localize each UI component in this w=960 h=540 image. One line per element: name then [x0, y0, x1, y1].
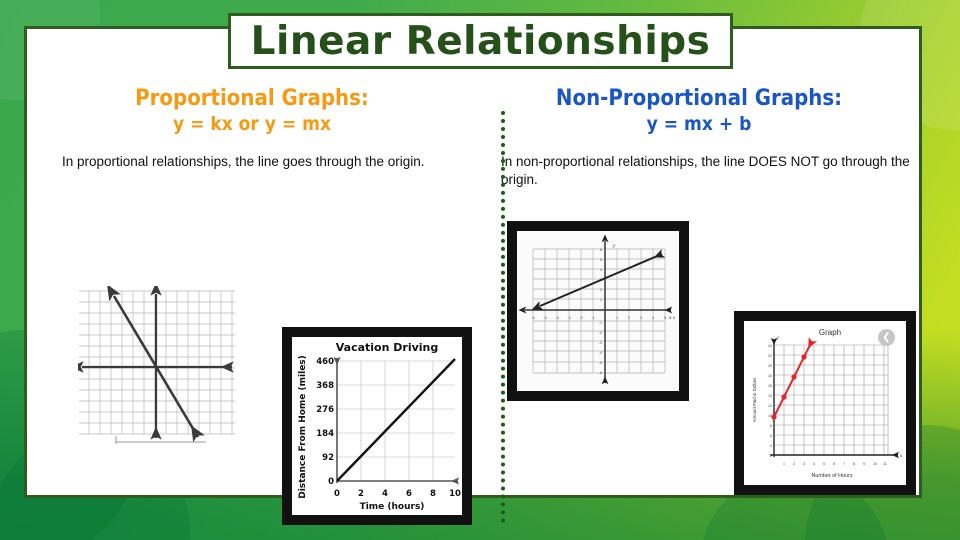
- svg-text:-1: -1: [599, 321, 602, 325]
- svg-text:2: 2: [358, 489, 364, 499]
- amount-paid-y-axis-label: Amount Paid in Dollars: [752, 377, 757, 422]
- svg-text:10: 10: [873, 462, 877, 466]
- svg-text:-5: -5: [599, 361, 602, 365]
- vacation-y-axis-label: Distance From Home (miles): [298, 355, 308, 499]
- svg-text:2: 2: [770, 454, 772, 458]
- svg-text:12: 12: [768, 404, 772, 408]
- svg-text:6: 6: [833, 462, 835, 466]
- svg-text:22: 22: [768, 354, 772, 358]
- svg-text:460: 460: [316, 357, 334, 367]
- right-column: Non-Proportional Graphs: y = mx + b In n…: [479, 61, 919, 501]
- svg-text:-4: -4: [599, 351, 602, 355]
- svg-text:-3: -3: [599, 341, 602, 345]
- svg-text:3: 3: [640, 316, 642, 320]
- amount-paid-x-axis-label: Number of Hours: [811, 473, 852, 479]
- non-proportional-grid-graph: y x -6-5-4 -3-2-1 123 456 654 321 -1-2-3…: [507, 221, 689, 401]
- non-proportional-heading-line1: Non-Proportional Graphs:: [479, 87, 919, 112]
- svg-text:9: 9: [863, 462, 865, 466]
- slide-content-card: Proportional Graphs: y = kx or y = mx In…: [24, 26, 922, 498]
- vacation-x-axis-label: Time (hours): [360, 502, 425, 512]
- svg-text:x: x: [899, 454, 903, 459]
- non-proportional-heading: Non-Proportional Graphs: y = mx + b: [479, 87, 919, 135]
- svg-text:-6: -6: [599, 371, 602, 375]
- non-proportional-body-text: In non-proportional relationships, the l…: [501, 153, 913, 189]
- left-column: Proportional Graphs: y = kx or y = mx In…: [27, 61, 477, 501]
- svg-text:1: 1: [616, 316, 618, 320]
- svg-text:y: y: [776, 336, 780, 341]
- svg-text:8: 8: [430, 489, 436, 499]
- vacation-driving-chart: Vacation Driving Distance From Home (mil…: [282, 327, 472, 525]
- svg-text:10: 10: [768, 414, 772, 418]
- svg-text:3: 3: [803, 462, 805, 466]
- svg-text:4: 4: [600, 268, 602, 272]
- vacation-chart-title: Vacation Driving: [336, 341, 439, 354]
- svg-text:8: 8: [853, 462, 855, 466]
- svg-text:-2: -2: [599, 331, 602, 335]
- svg-text:4: 4: [770, 444, 772, 448]
- slide-title-box: Linear Relationships: [228, 13, 733, 69]
- svg-text:368: 368: [316, 381, 334, 391]
- proportional-grid-graph: [78, 286, 236, 446]
- svg-text:14: 14: [768, 394, 772, 398]
- svg-text:4: 4: [813, 462, 815, 466]
- svg-text:11: 11: [883, 462, 887, 466]
- svg-text:1: 1: [783, 462, 785, 466]
- svg-text:4: 4: [652, 316, 654, 320]
- svg-text:-4: -4: [555, 316, 558, 320]
- svg-text:18: 18: [768, 374, 772, 378]
- svg-text:8: 8: [770, 424, 772, 428]
- svg-text:5: 5: [600, 258, 602, 262]
- svg-text:20: 20: [768, 364, 772, 368]
- svg-text:92: 92: [322, 453, 334, 463]
- svg-text:7: 7: [843, 462, 845, 466]
- svg-text:0: 0: [334, 489, 340, 499]
- svg-text:0: 0: [328, 477, 334, 487]
- svg-text:6: 6: [406, 489, 412, 499]
- svg-text:-3: -3: [567, 316, 570, 320]
- page-title: Linear Relationships: [251, 22, 711, 61]
- proportional-heading: Proportional Graphs: y = kx or y = mx: [27, 87, 477, 135]
- svg-text:2: 2: [793, 462, 795, 466]
- svg-text:-5: -5: [543, 316, 546, 320]
- svg-text:10: 10: [449, 489, 461, 499]
- svg-text:5: 5: [823, 462, 825, 466]
- column-divider: [501, 111, 505, 523]
- non-proportional-heading-line2: y = mx + b: [479, 114, 919, 135]
- svg-text:-1: -1: [591, 316, 594, 320]
- svg-text:276: 276: [316, 405, 334, 415]
- svg-text:-2: -2: [579, 316, 582, 320]
- amount-paid-chart-title: Graph: [819, 328, 841, 337]
- proportional-body-text: In proportional relationships, the line …: [62, 153, 442, 171]
- svg-text:16: 16: [768, 384, 772, 388]
- svg-text:6: 6: [673, 316, 675, 320]
- chevron-left-icon[interactable]: ❮: [878, 329, 895, 346]
- svg-text:5: 5: [664, 316, 666, 320]
- x-axis-label: x: [668, 315, 672, 321]
- svg-text:6: 6: [600, 248, 602, 252]
- svg-text:184: 184: [316, 429, 334, 439]
- proportional-heading-line2: y = kx or y = mx: [27, 114, 477, 135]
- y-axis-label: y: [612, 243, 616, 249]
- svg-text:1: 1: [600, 298, 602, 302]
- amount-paid-graph: Graph: [734, 311, 916, 495]
- proportional-heading-line1: Proportional Graphs:: [27, 87, 477, 112]
- svg-text:-6: -6: [531, 316, 534, 320]
- svg-text:6: 6: [770, 434, 772, 438]
- svg-text:24: 24: [768, 344, 772, 348]
- svg-text:2: 2: [600, 288, 602, 292]
- svg-text:4: 4: [382, 489, 388, 499]
- svg-text:2: 2: [628, 316, 630, 320]
